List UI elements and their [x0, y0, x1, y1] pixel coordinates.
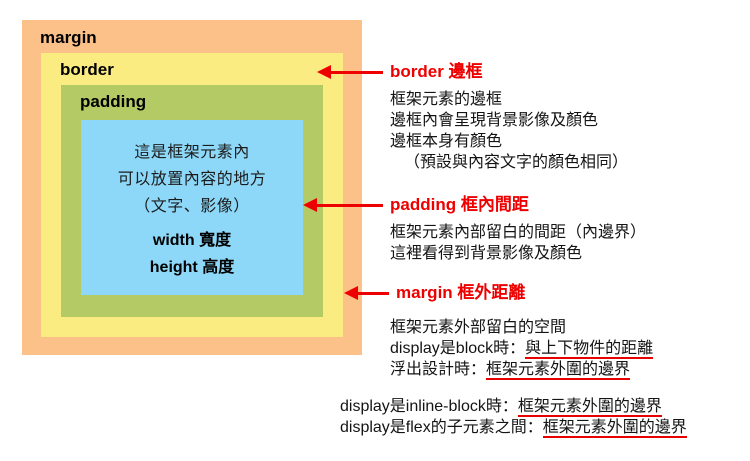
- border-body-line-3: 邊框本身有顏色: [390, 131, 628, 152]
- padding-annotation-heading: padding 框內間距: [390, 196, 529, 213]
- padding-callout-arrow-icon: [303, 198, 383, 212]
- content-height-label: height 高度: [81, 254, 303, 281]
- margin-body-line-3-underlined: 框架元素外圍的邊界: [486, 361, 630, 380]
- margin-layer: margin border padding 這是框架元素內 可以放置內容的地方 …: [22, 20, 362, 355]
- border-annotation-body: 框架元素的邊框 邊框內會呈現背景影像及顏色 邊框本身有顏色 （預設與內容文字的顏…: [390, 89, 628, 173]
- content-line-2: 可以放置內容的地方: [81, 166, 303, 193]
- margin-body-line-4-underlined: 框架元素外圍的邊界: [518, 398, 662, 417]
- border-body-line-2: 邊框內會呈現背景影像及顏色: [390, 110, 628, 131]
- margin-body-line-1: 框架元素外部留白的空間: [390, 317, 653, 338]
- margin-body-line-3-prefix: 浮出設計時：: [390, 361, 486, 378]
- margin-body-line-5-prefix: display是flex的子元素之間：: [340, 419, 543, 436]
- padding-annotation-body: 框架元素內部留白的間距（內邊界） 這裡看得到背景影像及顏色: [390, 222, 646, 264]
- margin-annotation-heading: margin 框外距離: [396, 284, 525, 301]
- margin-annotation-body: 框架元素外部留白的空間 display是block時：與上下物件的距離 浮出設計…: [390, 317, 653, 380]
- border-layer-label: border: [60, 61, 114, 78]
- margin-body-line-2-underlined: 與上下物件的距離: [525, 340, 653, 359]
- content-layer-text: 這是框架元素內 可以放置內容的地方 （文字、影像） width 寬度 heigh…: [81, 139, 303, 281]
- box-model-diagram-page: margin border padding 這是框架元素內 可以放置內容的地方 …: [0, 0, 750, 461]
- margin-body-line-4: display是inline-block時：框架元素外圍的邊界: [340, 396, 687, 417]
- margin-body-line-2: display是block時：與上下物件的距離: [390, 338, 653, 359]
- margin-body-line-5: display是flex的子元素之間：框架元素外圍的邊界: [340, 417, 687, 438]
- arrow-shaft: [356, 292, 389, 295]
- content-width-label: width 寬度: [81, 227, 303, 254]
- margin-body-line-5-underlined: 框架元素外圍的邊界: [543, 419, 687, 438]
- padding-body-line-2: 這裡看得到背景影像及顏色: [390, 243, 646, 264]
- content-line-1: 這是框架元素內: [81, 139, 303, 166]
- border-annotation-heading: border 邊框: [390, 63, 483, 80]
- border-callout-arrow-icon: [317, 65, 383, 79]
- padding-body-line-1: 框架元素內部留白的間距（內邊界）: [390, 222, 646, 243]
- margin-body-line-3: 浮出設計時：框架元素外圍的邊界: [390, 359, 653, 380]
- content-line-3: （文字、影像）: [81, 193, 303, 220]
- margin-annotation-body-secondary: display是inline-block時：框架元素外圍的邊界 display是…: [340, 396, 687, 438]
- margin-body-line-2-prefix: display是block時：: [390, 340, 525, 357]
- padding-layer-label: padding: [80, 93, 146, 110]
- content-layer: 這是框架元素內 可以放置內容的地方 （文字、影像） width 寬度 heigh…: [81, 120, 303, 295]
- margin-body-line-4-prefix: display是inline-block時：: [340, 398, 518, 415]
- margin-callout-arrow-icon: [344, 286, 389, 300]
- border-body-line-4: （預設與內容文字的顏色相同）: [390, 152, 628, 173]
- arrow-shaft: [329, 71, 383, 74]
- content-spacer: [81, 220, 303, 227]
- padding-layer: padding 這是框架元素內 可以放置內容的地方 （文字、影像） width …: [61, 85, 323, 317]
- border-layer: border padding 這是框架元素內 可以放置內容的地方 （文字、影像）…: [41, 53, 343, 337]
- arrow-shaft: [315, 204, 383, 207]
- margin-layer-label: margin: [40, 29, 97, 46]
- border-body-line-1: 框架元素的邊框: [390, 89, 628, 110]
